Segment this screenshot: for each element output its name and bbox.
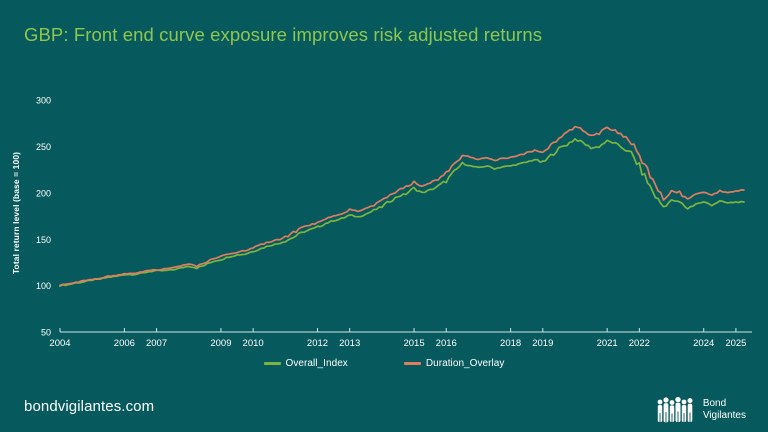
y-tick-label: 150 — [36, 235, 51, 245]
y-tick-label: 50 — [41, 328, 51, 338]
brand-logo: Bond Vigilantes — [656, 396, 746, 423]
y-tick-label: 100 — [36, 281, 51, 291]
website-url[interactable]: bondvigilantes.com — [24, 398, 154, 415]
chart-legend: Overall_Index Duration_Overlay — [0, 358, 768, 369]
y-tick-label: 200 — [36, 188, 51, 198]
y-tick-label: 250 — [36, 142, 51, 152]
line-chart: 5010015020025030020042006200720092010201… — [0, 80, 768, 350]
chart-container: Total return level (base = 100) 50100150… — [0, 80, 768, 350]
brand-line-2: Vigilantes — [703, 410, 746, 422]
page-title: GBP: Front end curve exposure improves r… — [24, 24, 542, 46]
brand-line-1: Bond — [703, 398, 746, 410]
legend-label-duration-overlay: Duration_Overlay — [426, 358, 505, 369]
legend-swatch-duration-overlay — [404, 362, 421, 365]
series-line-duration-overlay — [60, 126, 744, 285]
x-tick-label: 2019 — [532, 338, 553, 349]
x-tick-label: 2015 — [403, 338, 424, 349]
legend-item-overall-index[interactable]: Overall_Index — [264, 358, 348, 369]
x-tick-label: 2009 — [210, 338, 231, 349]
x-tick-label: 2018 — [500, 338, 521, 349]
legend-swatch-overall-index — [264, 362, 281, 365]
x-tick-label: 2022 — [629, 338, 650, 349]
legend-item-duration-overlay[interactable]: Duration_Overlay — [404, 358, 505, 369]
y-tick-label: 300 — [36, 96, 51, 106]
legend-label-overall-index: Overall_Index — [286, 358, 348, 369]
x-tick-label: 2024 — [693, 338, 714, 349]
x-tick-label: 2007 — [146, 338, 167, 349]
chart-page: GBP: Front end curve exposure improves r… — [0, 0, 768, 432]
x-tick-label: 2010 — [243, 338, 264, 349]
x-tick-label: 2004 — [49, 338, 70, 349]
crowd-figures-icon — [656, 396, 696, 423]
brand-name: Bond Vigilantes — [703, 398, 746, 421]
x-tick-label: 2013 — [339, 338, 360, 349]
x-tick-label: 2006 — [114, 338, 135, 349]
x-tick-label: 2025 — [725, 338, 746, 349]
x-tick-label: 2012 — [307, 338, 328, 349]
x-tick-label: 2016 — [436, 338, 457, 349]
y-axis-label: Total return level (base = 100) — [11, 128, 21, 298]
x-tick-label: 2021 — [597, 338, 618, 349]
